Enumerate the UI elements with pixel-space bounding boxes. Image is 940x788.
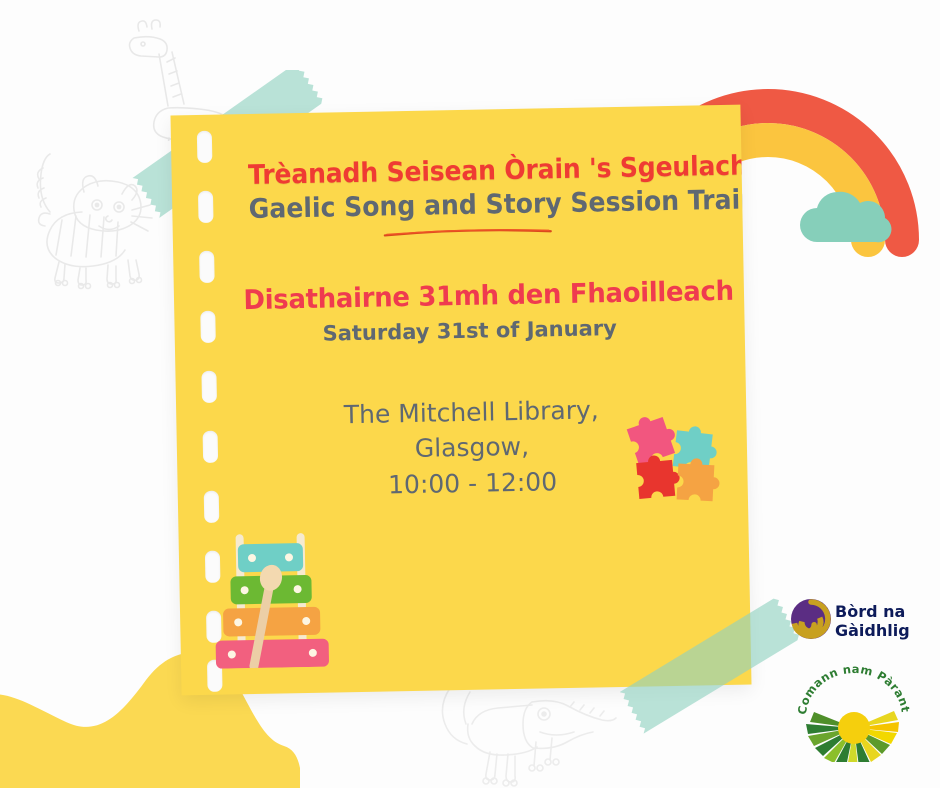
punch-hole [204, 491, 220, 523]
punch-hole [206, 611, 222, 643]
bord-na-gaidhlig-logo: Bòrd na Gàidhlig [790, 596, 920, 648]
logo-group: Bòrd na Gàidhlig Comann nam Pàrant [782, 596, 932, 762]
punch-hole [207, 660, 223, 692]
svg-text:Bòrd na: Bòrd na [835, 602, 905, 621]
cat-doodle-icon [24, 150, 184, 290]
note-inner: Trèanadh Seisean Òrain 's Sgeulachd Gael… [170, 105, 751, 696]
venue-block: The Mitchell Library, Glasgow, 10:00 - 1… [236, 390, 708, 506]
english-title: Gaelic Song and Story Session Training [248, 186, 686, 225]
punch-hole [200, 311, 216, 343]
punch-hole [205, 551, 221, 583]
poster-canvas: Trèanadh Seisean Òrain 's Sgeulachd Gael… [0, 0, 940, 788]
svg-text:Comann nam Pàrant: Comann nam Pàrant [795, 666, 913, 715]
punch-hole [199, 251, 215, 283]
note-content: Trèanadh Seisean Òrain 's Sgeulachd Gael… [231, 153, 708, 505]
xylophone-icon [210, 526, 335, 668]
punch-hole [203, 431, 219, 463]
punch-hole [198, 191, 214, 223]
svg-text:Gàidhlig: Gàidhlig [835, 621, 910, 640]
event-note-card: Trèanadh Seisean Òrain 's Sgeulachd Gael… [170, 105, 751, 696]
gaelic-date: Disathairne 31mh den Fhaoilleach [243, 278, 695, 316]
gaelic-title: Trèanadh Seisean Òrain 's Sgeulachd [248, 154, 686, 190]
title-underline-icon [383, 225, 553, 237]
english-date: Saturday 31st of January [234, 314, 704, 347]
comann-nam-parant-logo: Comann nam Pàrant [794, 666, 914, 762]
venue-line-3: 10:00 - 12:00 [237, 461, 708, 506]
punch-hole [197, 131, 213, 163]
crocodile-doodle-icon [420, 680, 650, 788]
punch-hole [201, 371, 217, 403]
cloud-icon [800, 182, 905, 248]
